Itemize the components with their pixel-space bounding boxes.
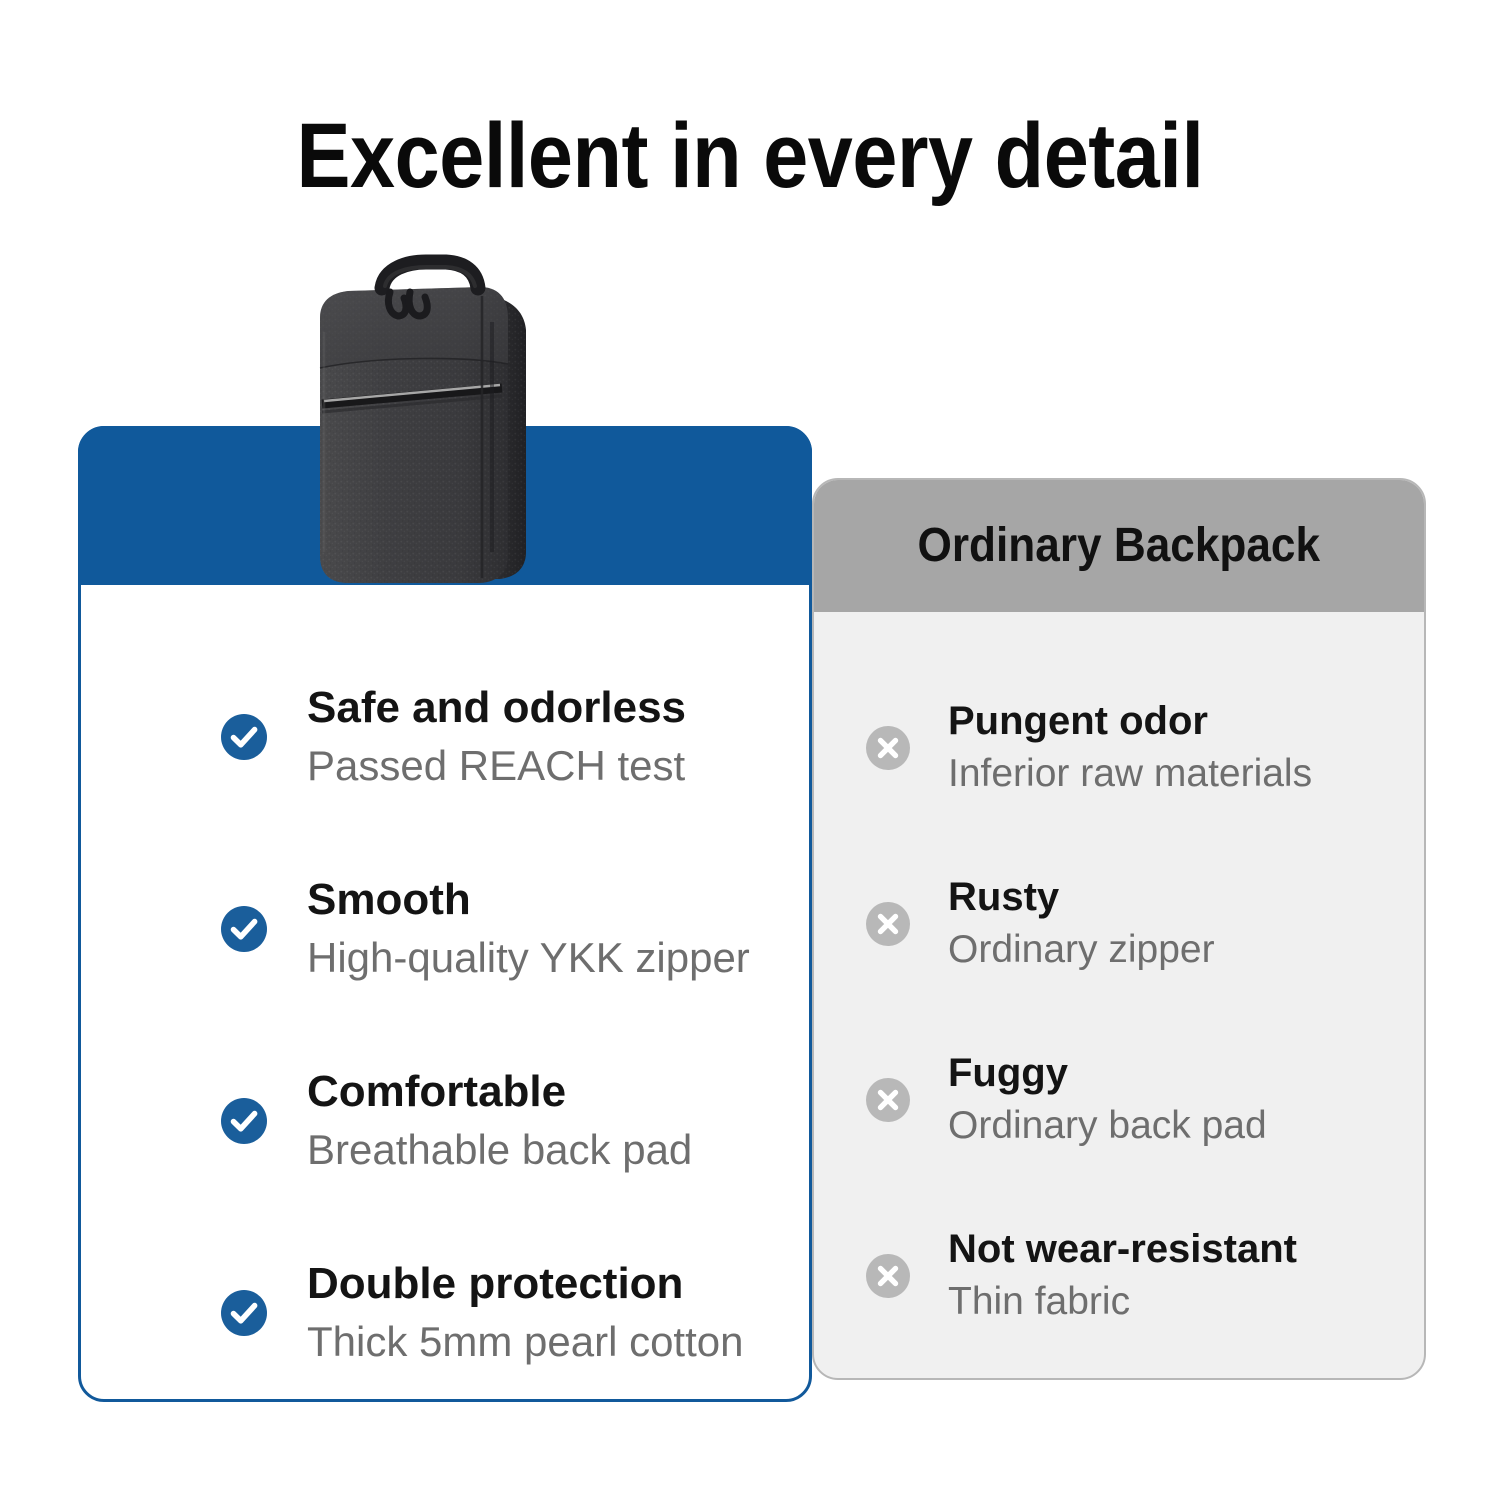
cross-icon — [866, 902, 910, 946]
list-item: Safe and odorless Passed REACH test — [81, 641, 809, 833]
list-item-text: Not wear-resistant Thin fabric — [948, 1223, 1424, 1329]
list-item-subtitle: Breathable back pad — [307, 1121, 809, 1179]
list-item: Pungent odor Inferior raw materials — [814, 660, 1424, 836]
list-item-title: Fuggy — [948, 1047, 1424, 1099]
comparison-infographic: Excellent in every detail Ordinary Backp… — [0, 0, 1500, 1500]
list-item-title: Smooth — [307, 871, 809, 929]
ordinary-card-title: Ordinary Backpack — [918, 518, 1321, 574]
our-feature-list: Safe and odorless Passed REACH test Smoo… — [81, 585, 809, 1409]
check-icon — [221, 906, 267, 952]
check-icon — [221, 714, 267, 760]
cross-icon — [866, 1078, 910, 1122]
backpack-product-image — [286, 252, 554, 590]
list-item-subtitle: Ordinary back pad — [948, 1099, 1424, 1153]
list-item-subtitle: High-quality YKK zipper — [307, 929, 809, 987]
list-item: Not wear-resistant Thin fabric — [814, 1188, 1424, 1364]
list-item: Comfortable Breathable back pad — [81, 1025, 809, 1217]
list-item-title: Safe and odorless — [307, 679, 809, 737]
list-item: Rusty Ordinary zipper — [814, 836, 1424, 1012]
page-title: Excellent in every detail — [90, 104, 1410, 208]
check-icon — [221, 1098, 267, 1144]
list-item-text: Pungent odor Inferior raw materials — [948, 695, 1424, 801]
list-item-subtitle: Thick 5mm pearl cotton — [307, 1313, 809, 1371]
ordinary-feature-list: Pungent odor Inferior raw materials Rust… — [814, 612, 1424, 1364]
cross-icon — [866, 1254, 910, 1298]
list-item-subtitle: Ordinary zipper — [948, 923, 1424, 977]
list-item-text: Double protection Thick 5mm pearl cotton — [307, 1255, 809, 1371]
list-item-title: Rusty — [948, 871, 1424, 923]
ordinary-backpack-card: Ordinary Backpack Pungent odor Inferior … — [812, 478, 1426, 1380]
check-icon — [221, 1290, 267, 1336]
list-item: Smooth High-quality YKK zipper — [81, 833, 809, 1025]
list-item-text: Fuggy Ordinary back pad — [948, 1047, 1424, 1153]
list-item-title: Comfortable — [307, 1063, 809, 1121]
list-item-text: Rusty Ordinary zipper — [948, 871, 1424, 977]
list-item-subtitle: Inferior raw materials — [948, 747, 1424, 801]
list-item-subtitle: Passed REACH test — [307, 737, 809, 795]
list-item-text: Smooth High-quality YKK zipper — [307, 871, 809, 987]
list-item: Fuggy Ordinary back pad — [814, 1012, 1424, 1188]
list-item-text: Safe and odorless Passed REACH test — [307, 679, 809, 795]
list-item-title: Pungent odor — [948, 695, 1424, 747]
list-item-subtitle: Thin fabric — [948, 1275, 1424, 1329]
list-item: Double protection Thick 5mm pearl cotton — [81, 1217, 809, 1409]
backpack-top-flap — [320, 287, 508, 368]
cross-icon — [866, 726, 910, 770]
ordinary-card-header: Ordinary Backpack — [814, 480, 1424, 612]
list-item-text: Comfortable Breathable back pad — [307, 1063, 809, 1179]
list-item-title: Not wear-resistant — [948, 1223, 1424, 1275]
list-item-title: Double protection — [307, 1255, 809, 1313]
